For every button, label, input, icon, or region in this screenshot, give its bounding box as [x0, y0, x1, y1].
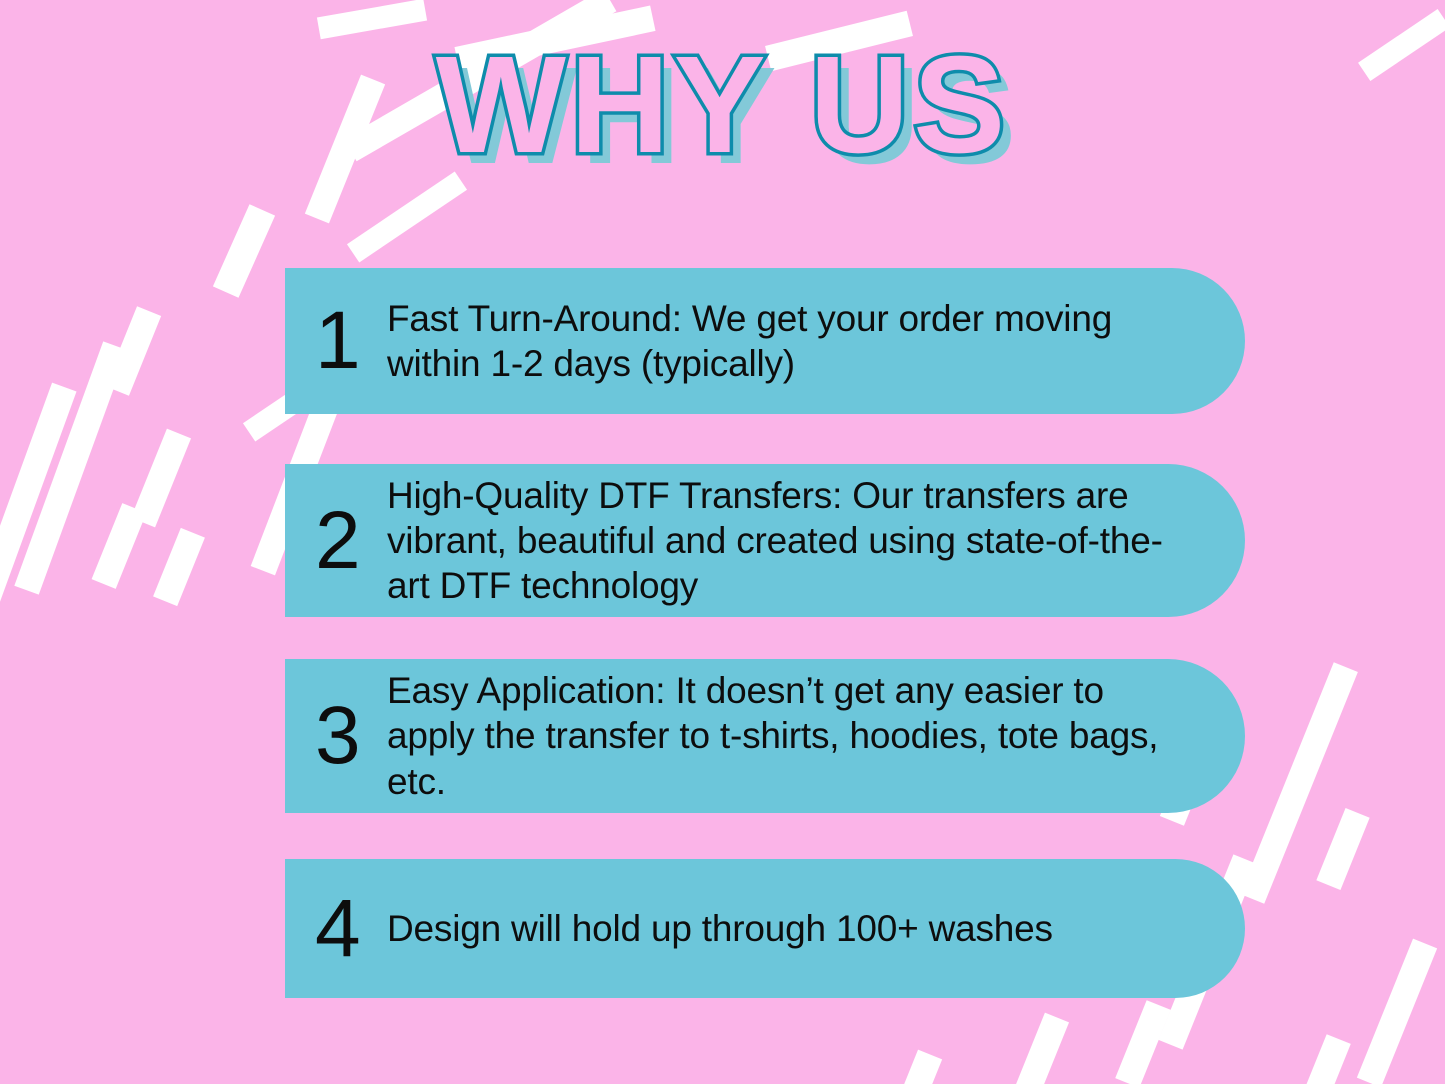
benefit-item-2: 2 High-Quality DTF Transfers: Our transf…: [285, 464, 1245, 617]
decorative-dash: [1316, 808, 1369, 890]
title-fill-layer: WHY US: [436, 36, 1010, 174]
decorative-dash: [213, 204, 275, 298]
benefit-text-3: Easy Application: It doesn’t get any eas…: [387, 668, 1175, 803]
decorative-dash: [1009, 1013, 1069, 1084]
decorative-dash: [105, 306, 161, 395]
benefit-item-4: 4 Design will hold up through 100+ washe…: [285, 859, 1245, 998]
decorative-dash: [153, 528, 205, 606]
decorative-dash: [92, 503, 147, 589]
decorative-dash: [1115, 1000, 1171, 1084]
decorative-dash: [0, 383, 77, 674]
benefit-number-2: 2: [315, 500, 387, 582]
benefit-number-3: 3: [315, 695, 387, 777]
poster-canvas: WHY US WHY US WHY US 1 Fast Turn-Around:…: [0, 0, 1445, 1084]
benefit-text-1: Fast Turn-Around: We get your order movi…: [387, 296, 1175, 386]
title-stack: WHY US WHY US WHY US: [436, 36, 1010, 174]
benefit-text-4: Design will hold up through 100+ washes: [387, 906, 1175, 951]
decorative-dash: [14, 341, 127, 594]
decorative-dash: [1357, 939, 1437, 1084]
benefit-item-3: 3 Easy Application: It doesn’t get any e…: [285, 659, 1245, 813]
decorative-dash: [131, 429, 191, 528]
benefit-number-4: 4: [315, 888, 387, 970]
decorative-dash: [1240, 662, 1358, 904]
decorative-dash: [317, 0, 427, 39]
benefit-number-1: 1: [315, 300, 387, 382]
page-title: WHY US WHY US WHY US: [0, 36, 1445, 174]
benefit-item-1: 1 Fast Turn-Around: We get your order mo…: [285, 268, 1245, 414]
decorative-dash: [892, 1050, 942, 1084]
decorative-dash: [1295, 1034, 1351, 1084]
benefits-list: 1 Fast Turn-Around: We get your order mo…: [285, 268, 1245, 998]
benefit-text-2: High-Quality DTF Transfers: Our transfer…: [387, 473, 1175, 608]
